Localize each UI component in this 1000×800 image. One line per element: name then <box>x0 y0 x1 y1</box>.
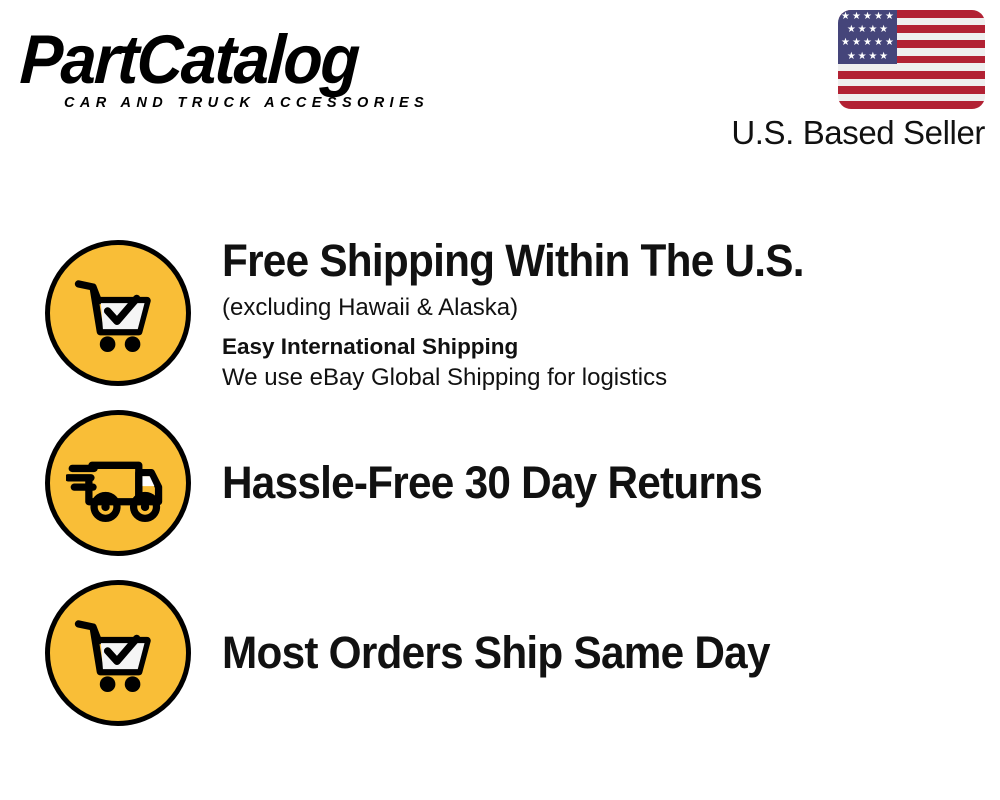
feature-headline: Free Shipping Within The U.S. <box>222 236 935 286</box>
feature-subline-bold: Easy International Shipping <box>222 332 980 362</box>
seller-badge-label: U.S. Based Seller <box>715 113 985 153</box>
us-based-seller-badge: ★★★★★ ★★★★ ★★★★★ ★★★★ U.S. Based Seller <box>715 10 985 153</box>
feature-text-block: Hassle-Free 30 Day Returns <box>222 458 1000 508</box>
promotional-banner: PartCatalog CAR AND TRUCK ACCESSORIES ★★ <box>0 0 1000 800</box>
feature-text-block: Most Orders Ship Same Day <box>222 628 1000 678</box>
feature-row: Hassle-Free 30 Day Returns <box>0 398 1000 568</box>
feature-row: Most Orders Ship Same Day <box>0 568 1000 738</box>
us-flag-icon: ★★★★★ ★★★★ ★★★★★ ★★★★ <box>838 10 985 109</box>
feature-subline: (excluding Hawaii & Alaska) <box>222 292 980 323</box>
brand-wordmark: PartCatalog <box>18 24 459 96</box>
partcatalog-logo: PartCatalog CAR AND TRUCK ACCESSORIES <box>22 24 492 114</box>
flag-canton: ★★★★★ ★★★★ ★★★★★ ★★★★ <box>838 10 897 64</box>
delivery-truck-icon <box>45 410 191 556</box>
shopping-cart-check-icon <box>45 580 191 726</box>
feature-list: Free Shipping Within The U.S. (excluding… <box>0 228 1000 738</box>
feature-headline: Hassle-Free 30 Day Returns <box>222 458 935 508</box>
feature-row: Free Shipping Within The U.S. (excluding… <box>0 228 1000 398</box>
brand-tagline: CAR AND TRUCK ACCESSORIES <box>64 94 429 112</box>
feature-text-block: Free Shipping Within The U.S. (excluding… <box>222 236 1000 393</box>
banner-header: PartCatalog CAR AND TRUCK ACCESSORIES ★★ <box>0 0 1000 175</box>
shopping-cart-check-icon <box>45 240 191 386</box>
feature-sublines: (excluding Hawaii & Alaska) Easy Interna… <box>222 292 980 393</box>
feature-subline: We use eBay Global Shipping for logistic… <box>222 362 980 393</box>
feature-headline: Most Orders Ship Same Day <box>222 628 935 678</box>
